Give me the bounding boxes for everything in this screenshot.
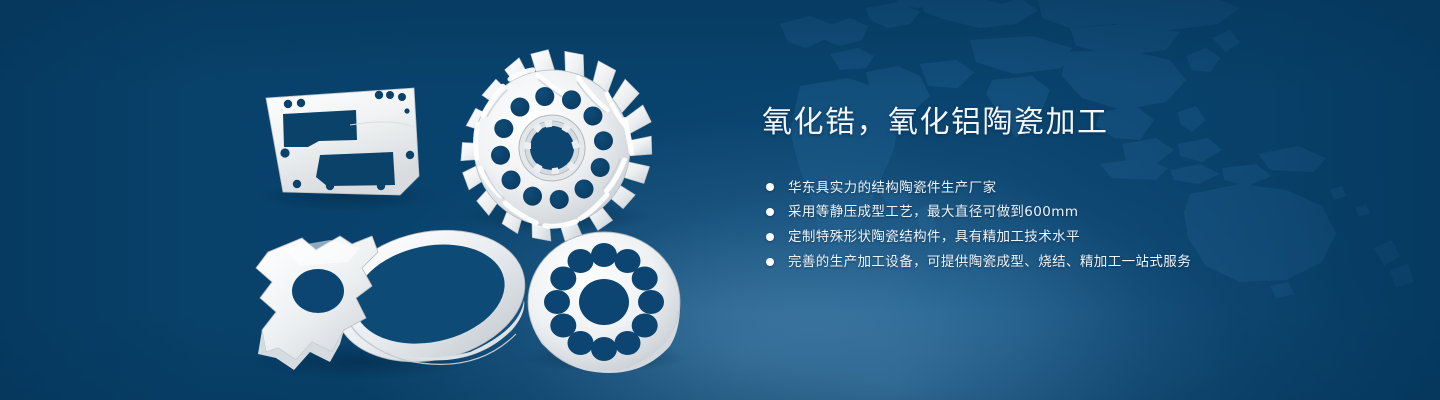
feature-text: 华东具实力的结构陶瓷件生产厂家 [788,180,997,196]
ceramic-perforated-disc [528,232,680,373]
bullet-dot-icon [766,258,774,266]
feature-text: 定制特殊形状陶瓷结构件，具有精加工技术水平 [788,229,1080,245]
list-item: 华东具实力的结构陶瓷件生产厂家 [766,180,1382,196]
bullet-dot-icon [766,208,774,216]
list-item: 定制特殊形状陶瓷结构件，具有精加工技术水平 [766,229,1382,245]
list-item: 采用等静压成型工艺，最大直径可做到600mm [766,204,1382,220]
bullet-dot-icon [766,233,774,241]
feature-text: 采用等静压成型工艺，最大直径可做到600mm [788,204,1078,220]
feature-list: 华东具实力的结构陶瓷件生产厂家 采用等静压成型工艺，最大直径可做到600mm 定… [766,180,1382,271]
copy-block: 氧化锆，氧化铝陶瓷加工 华东具实力的结构陶瓷件生产厂家 采用等静压成型工艺，最大… [762,104,1382,279]
bullet-dot-icon [766,183,774,191]
page-title: 氧化锆，氧化铝陶瓷加工 [762,104,1382,142]
feature-text: 完善的生产加工设备，可提供陶瓷成型、烧结、精加工一站式服务 [788,254,1191,270]
list-item: 完善的生产加工设备，可提供陶瓷成型、烧结、精加工一站式服务 [766,254,1382,270]
product-images [0,0,740,400]
ceramic-plate [266,88,419,195]
hero-banner: 氧化锆，氧化铝陶瓷加工 华东具实力的结构陶瓷件生产厂家 采用等静压成型工艺，最大… [0,0,1440,400]
